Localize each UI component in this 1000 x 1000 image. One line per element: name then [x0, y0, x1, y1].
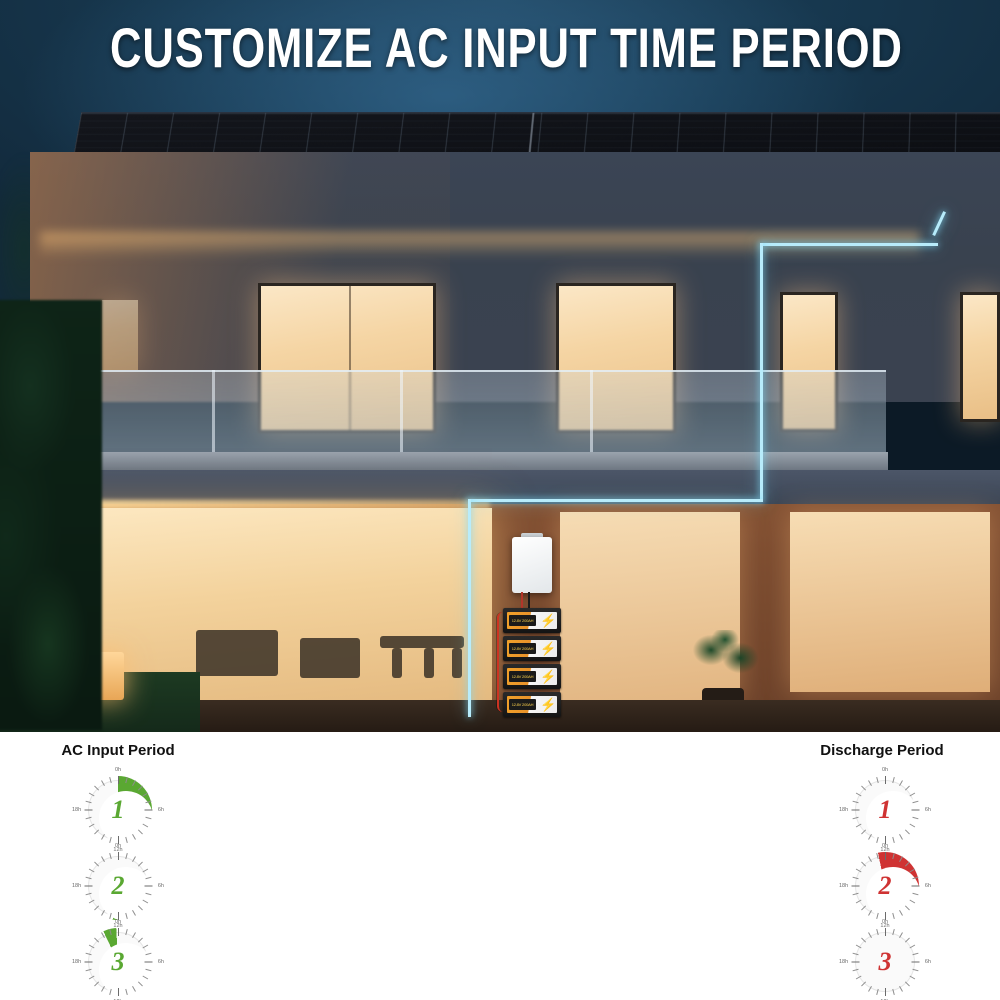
clock-hour-label-top: 0h [882, 843, 888, 849]
clock-hour-label-top: 0h [115, 843, 121, 849]
clock-hour-label-left: 18h [839, 807, 848, 813]
battery-module: 12.8V 200AH ⚡ [503, 664, 561, 689]
clock-hour-label-left: 18h [839, 883, 848, 889]
dining-table [380, 636, 464, 648]
house-scene-photo: 12.8V 200AH ⚡ 12.8V 200AH ⚡ 12.8V 200AH … [0, 0, 1000, 732]
lightning-bolt-icon: ⚡ [540, 614, 554, 627]
battery-faceplate: 12.8V 200AH ⚡ [507, 696, 557, 713]
discharge-period-heading: Discharge Period [772, 742, 992, 759]
foreground-tree [0, 300, 102, 730]
dining-chair-3 [452, 648, 462, 678]
battery-stack: 12.8V 200AH ⚡ 12.8V 200AH ⚡ 12.8V 200AH … [503, 608, 561, 718]
energy-line-soffit-horizontal [468, 499, 763, 502]
discharge-clock-3[interactable]: 30h6h12h18h [843, 920, 927, 1000]
upper-window-small-left [102, 300, 138, 370]
far-room-interior [790, 512, 990, 692]
clock-index-number: 2 [76, 844, 160, 928]
ac-input-clock-3[interactable]: 30h6h12h18h [76, 920, 160, 1000]
dining-chair-1 [392, 648, 402, 678]
clock-index-number: 1 [843, 768, 927, 852]
battery-module: 12.8V 200AH ⚡ [503, 636, 561, 661]
clock-hour-label-top: 0h [882, 767, 888, 773]
sofa [196, 630, 278, 676]
clock-hour-label-top: 0h [115, 767, 121, 773]
clock-hour-label-left: 18h [839, 959, 848, 965]
battery-module: 12.8V 200AH ⚡ [503, 608, 561, 633]
ac-input-clock-1[interactable]: 10h6h12h18h [76, 768, 160, 852]
battery-module: 12.8V 200AH ⚡ [503, 692, 561, 717]
clock-hour-label-right: 6h [158, 807, 164, 813]
clock-hour-label-right: 6h [925, 959, 931, 965]
clock-hour-label-right: 6h [925, 883, 931, 889]
battery-faceplate: 12.8V 200AH ⚡ [507, 640, 557, 657]
battery-label: 12.8V 200AH [509, 615, 536, 626]
discharge-clock-1[interactable]: 10h6h12h18h [843, 768, 927, 852]
balcony-glass-railing [30, 370, 886, 455]
battery-label: 12.8V 200AH [509, 699, 536, 710]
discharge-clock-2[interactable]: 20h6h12h18h [843, 844, 927, 928]
clock-hour-label-top: 0h [882, 919, 888, 925]
ac-input-clock-2[interactable]: 20h6h12h18h [76, 844, 160, 928]
inverter-positive-wire [521, 592, 523, 608]
lightning-bolt-icon: ⚡ [540, 698, 554, 711]
bottom-info-panel: AC Input Period Discharge Period 10h6h12… [0, 732, 1000, 1000]
battery-faceplate: 12.8V 200AH ⚡ [507, 612, 557, 629]
clock-hour-label-left: 18h [72, 959, 81, 965]
dining-chair-2 [424, 648, 434, 678]
lightning-bolt-icon: ⚡ [540, 670, 554, 683]
hybrid-inverter [512, 537, 552, 593]
energy-line-roof-horizontal [760, 243, 938, 246]
clock-hour-label-left: 18h [72, 883, 81, 889]
balcony-slab [28, 452, 888, 472]
upper-window-far-right [960, 292, 1000, 422]
battery-label: 12.8V 200AH [509, 643, 536, 654]
battery-faceplate: 12.8V 200AH ⚡ [507, 668, 557, 685]
armchair [300, 638, 360, 678]
clock-hour-label-right: 6h [158, 883, 164, 889]
energy-line-vertical [760, 243, 763, 501]
clock-hour-label-right: 6h [158, 959, 164, 965]
clock-hour-label-top: 0h [115, 919, 121, 925]
ac-input-period-heading: AC Input Period [8, 742, 228, 759]
clock-index-number: 1 [76, 768, 160, 852]
clock-hour-label-left: 18h [72, 807, 81, 813]
energy-line-to-inverter [468, 499, 471, 717]
clock-index-number: 3 [76, 920, 160, 1000]
battery-label: 12.8V 200AH [509, 671, 536, 682]
clock-index-number: 3 [843, 920, 927, 1000]
lightning-bolt-icon: ⚡ [540, 642, 554, 655]
clock-index-number: 2 [843, 844, 927, 928]
clock-hour-label-right: 6h [925, 807, 931, 813]
page-title: CUSTOMIZE AC INPUT TIME PERIOD [110, 12, 890, 84]
